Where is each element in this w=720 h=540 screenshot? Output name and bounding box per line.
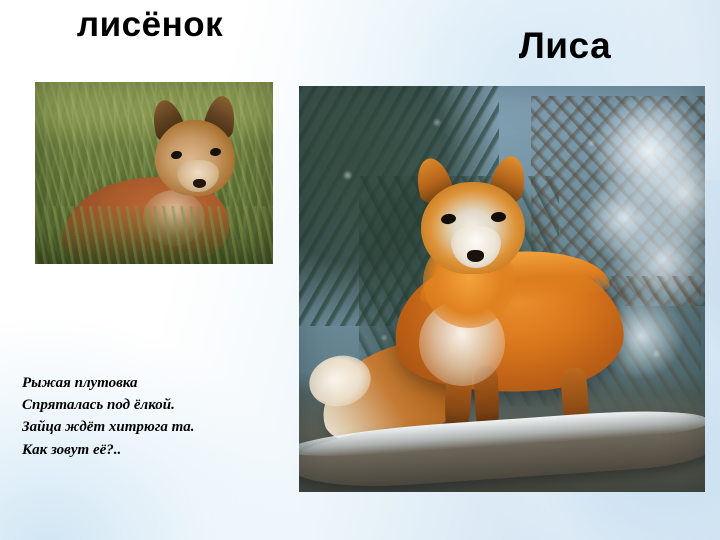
cub-photo-vignette — [35, 82, 273, 264]
red-fox-photo — [299, 86, 705, 492]
poem-line-4: Как зовут её?.. — [22, 439, 292, 461]
fox-photo-vignette — [299, 86, 705, 492]
slide-canvas: лисёнок Лиса Рыжая плутовка Спряталась п… — [0, 0, 720, 540]
fox-title: Лиса — [430, 26, 700, 67]
cub-title: лисёнок — [0, 6, 300, 45]
poem-riddle-text: Рыжая плутовка Спряталась под ёлкой. Зай… — [22, 372, 292, 461]
poem-line-3: Зайца ждёт хитрюга та. — [22, 416, 292, 438]
poem-line-1: Рыжая плутовка — [22, 372, 292, 394]
fox-cub-photo — [35, 82, 273, 264]
poem-line-2: Спряталась под ёлкой. — [22, 394, 292, 416]
